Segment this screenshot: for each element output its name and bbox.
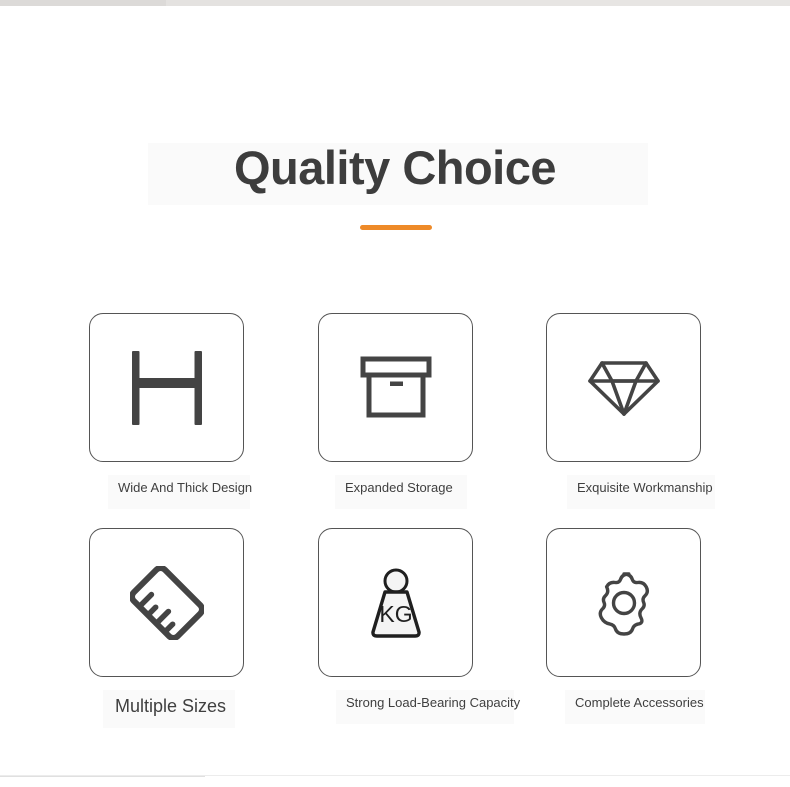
diamond-icon: [586, 357, 662, 419]
feature-item-strong-load-bearing-capacity[interactable]: KG Strong Load-Bearing Capacity: [318, 528, 548, 712]
feature-label: Complete Accessories: [575, 695, 704, 710]
feature-card[interactable]: [89, 528, 244, 677]
feature-label-row: Expanded Storage: [318, 479, 548, 497]
feature-label-row: Exquisite Workmanship: [546, 479, 776, 497]
feature-grid: Wide And Thick Design Expanded Storage: [0, 0, 790, 787]
feature-label-row: Multiple Sizes: [89, 694, 319, 718]
feature-card[interactable]: [318, 313, 473, 462]
feature-card[interactable]: [89, 313, 244, 462]
feature-item-exquisite-workmanship[interactable]: Exquisite Workmanship: [546, 313, 776, 497]
bottom-divider-segment: [0, 776, 205, 777]
feature-item-multiple-sizes[interactable]: Multiple Sizes: [89, 528, 319, 718]
h-frame-icon: [124, 349, 210, 427]
kg-weight-icon-text: KG: [379, 601, 412, 627]
feature-label: Expanded Storage: [345, 480, 453, 495]
feature-label-row: Strong Load-Bearing Capacity: [318, 694, 548, 712]
feature-label: Wide And Thick Design: [118, 480, 252, 495]
feature-item-expanded-storage[interactable]: Expanded Storage: [318, 313, 548, 497]
feature-item-complete-accessories[interactable]: Complete Accessories: [546, 528, 776, 712]
feature-card[interactable]: [546, 528, 701, 677]
feature-label-row: Wide And Thick Design: [89, 479, 319, 497]
ruler-icon: [130, 566, 204, 640]
feature-card[interactable]: [546, 313, 701, 462]
storage-box-icon: [360, 356, 432, 420]
feature-label: Strong Load-Bearing Capacity: [346, 695, 520, 710]
feature-label: Multiple Sizes: [115, 696, 226, 716]
feature-card[interactable]: KG: [318, 528, 473, 677]
gear-icon: [591, 570, 657, 636]
feature-item-wide-and-thick-design[interactable]: Wide And Thick Design: [89, 313, 319, 497]
kg-weight-icon: KG: [361, 566, 431, 640]
feature-label: Exquisite Workmanship: [577, 480, 713, 495]
feature-label-row: Complete Accessories: [546, 694, 776, 712]
feature-section-page: Quality Choice Wide And Thick Design: [0, 0, 790, 787]
